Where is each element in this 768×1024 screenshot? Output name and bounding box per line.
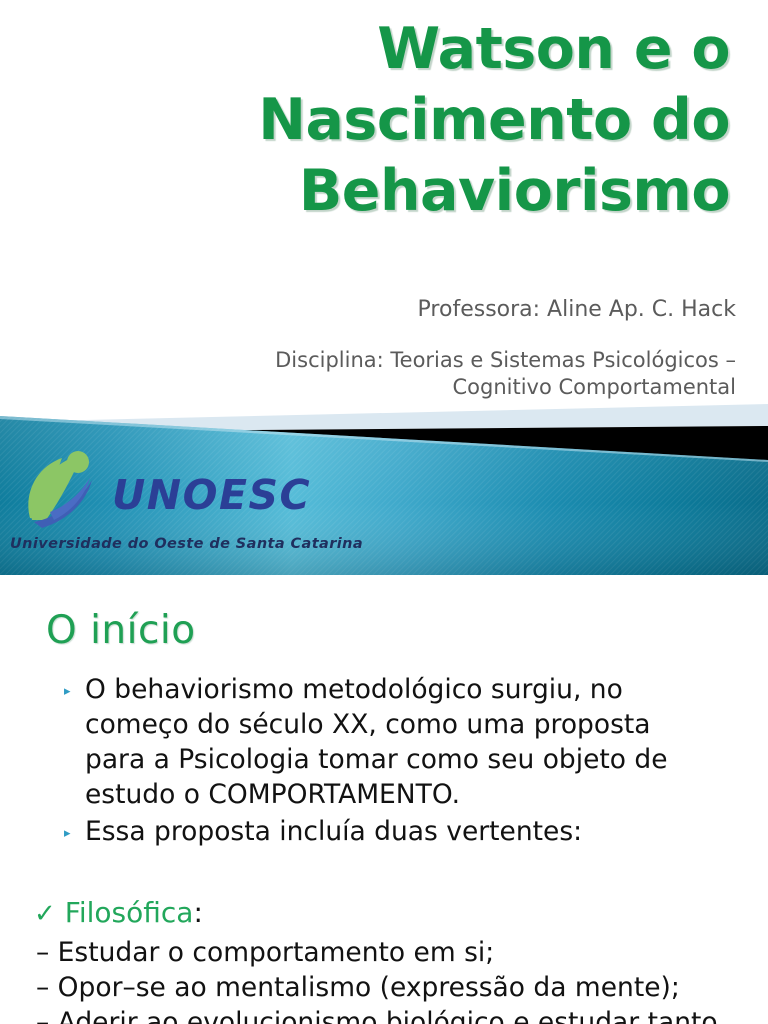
check-label-colon: : bbox=[193, 896, 202, 929]
subtitle-spacer bbox=[36, 325, 736, 347]
unoesc-wordmark: UNOESC bbox=[112, 473, 311, 517]
list-item: ▸ O behaviorismo metodológico surgiu, no… bbox=[64, 672, 754, 812]
title-slide: Watson e o Nascimento do Behaviorismo Pr… bbox=[0, 0, 768, 576]
title-line-1: Watson e o bbox=[130, 14, 730, 85]
page-title: O início bbox=[46, 608, 196, 653]
discipline-line-1: Disciplina: Teorias e Sistemas Psicológi… bbox=[275, 348, 736, 372]
triangle-bullet-icon: ▸ bbox=[64, 685, 82, 698]
bullet-text: Essa proposta incluía duas vertentes: bbox=[85, 814, 705, 849]
slide-subtitle-block: Professora: Aline Ap. C. Hack Disciplina… bbox=[36, 295, 736, 401]
unoesc-tagline: Universidade do Oeste de Santa Catarina bbox=[10, 536, 363, 552]
title-line-2: Nascimento do bbox=[130, 85, 730, 156]
check-label-text: Filosófica bbox=[65, 896, 194, 929]
content-slide: O início ▸ O behaviorismo metodológico s… bbox=[0, 576, 768, 1024]
discipline-label: Disciplina: Teorias e Sistemas Psicológi… bbox=[36, 347, 736, 401]
triangle-bullet-icon: ▸ bbox=[64, 827, 82, 840]
dash-item: – Aderir ao evolucionismo biológico e es… bbox=[34, 1005, 764, 1024]
head-dot-icon bbox=[67, 451, 89, 473]
vertentes-section: ✓ Filosófica: – Estudar o comportamento … bbox=[34, 896, 764, 1024]
professor-label: Professora: Aline Ap. C. Hack bbox=[36, 295, 736, 325]
discipline-line-2: Cognitivo Comportamental bbox=[36, 374, 736, 401]
bullet-text: O behaviorismo metodológico surgiu, no c… bbox=[85, 672, 705, 812]
title-line-3: Behaviorismo bbox=[130, 156, 730, 227]
check-label: Filosófica: bbox=[65, 896, 203, 930]
unoesc-logo-mark bbox=[20, 448, 112, 530]
list-item: ▸ Essa proposta incluía duas vertentes: bbox=[64, 814, 754, 849]
dash-item: – Opor–se ao mentalismo (expressão da me… bbox=[34, 970, 764, 1005]
unoesc-logo: UNOESC Universidade do Oeste de Santa Ca… bbox=[8, 448, 318, 563]
check-list-item: ✓ Filosófica: bbox=[34, 896, 764, 931]
dash-item: – Estudar o comportamento em si; bbox=[34, 935, 764, 970]
slide-title-heading: Watson e o Nascimento do Behaviorismo bbox=[130, 14, 730, 227]
bullet-list: ▸ O behaviorismo metodológico surgiu, no… bbox=[64, 672, 754, 851]
check-icon: ✓ bbox=[34, 897, 56, 931]
